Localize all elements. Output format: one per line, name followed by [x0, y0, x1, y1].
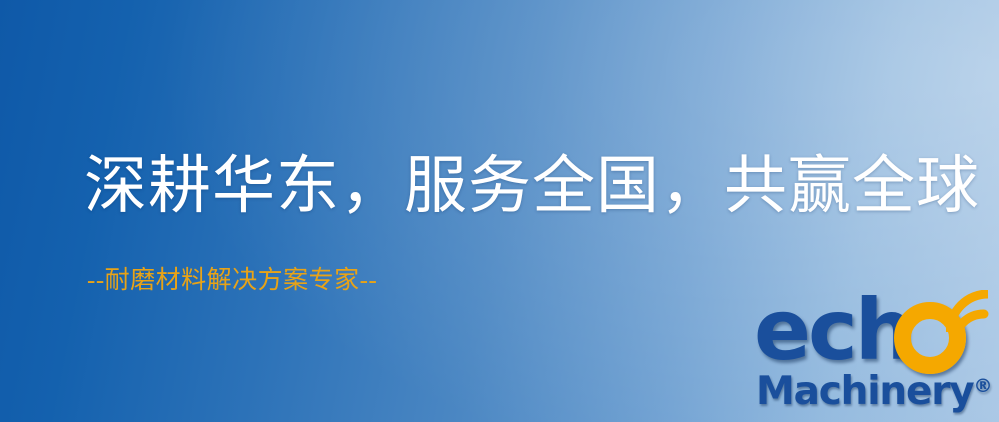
company-logo[interactable]: ech Machinery® [746, 296, 999, 422]
logo-wordmark-group: ech [746, 296, 999, 374]
registered-trademark-icon: ® [973, 375, 992, 397]
logo-tagline: Machinery [756, 369, 973, 414]
banner-subtitle: --耐磨材料解决方案专家-- [87, 266, 377, 296]
hero-banner: 深耕华东，服务全国，共赢全球 --耐磨材料解决方案专家-- ech [0, 0, 999, 422]
banner-headline: 深耕华东，服务全国，共赢全球 [84, 152, 980, 220]
logo-wordmark-ech: ech [754, 288, 912, 372]
logo-tagline-group: Machinery® [756, 372, 992, 411]
signal-arcs-icon [946, 290, 999, 352]
